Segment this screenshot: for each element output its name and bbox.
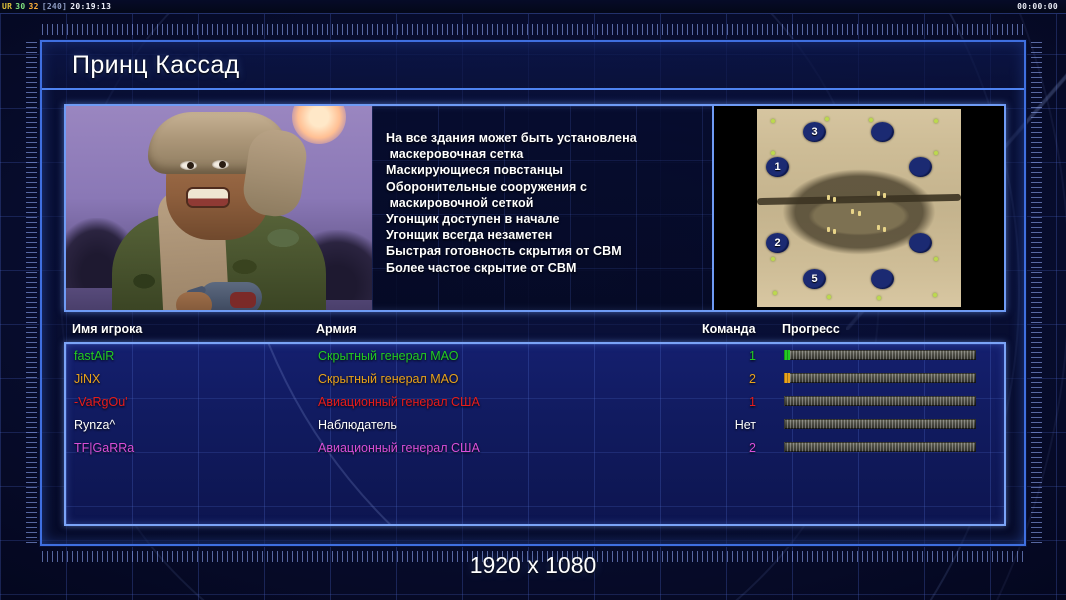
player-team: Нет (728, 418, 756, 432)
system-clock: 20:19:13 (70, 2, 111, 11)
title-bar: Принц Кассад (42, 42, 1024, 90)
map-start-position (871, 122, 894, 142)
description-line: На все здания может быть установлена (386, 130, 702, 146)
map-start-position: 5 (803, 269, 826, 289)
map-preview-frame[interactable]: 3125 (712, 106, 1004, 310)
fps-value-b: 32 (28, 2, 38, 11)
map-start-position: 3 (803, 122, 826, 142)
map-preview-image: 3125 (757, 109, 961, 307)
map-supply-marker (877, 225, 880, 230)
map-resource-marker (934, 119, 938, 123)
character-eye (180, 161, 197, 170)
description-line: Угонщик доступен в начале (386, 211, 702, 227)
character-figure (104, 120, 334, 310)
map-resource-marker (771, 119, 775, 123)
player-team: 2 (728, 441, 756, 455)
map-resource-marker (934, 257, 938, 261)
map-start-position (871, 269, 894, 289)
character-mouth (188, 189, 228, 206)
player-name: TF|GaRRa (74, 441, 134, 455)
player-army: Скрытный генерал МАО (318, 372, 458, 386)
map-resource-marker (773, 291, 777, 295)
ruler-right (1031, 42, 1042, 546)
progress-fill (784, 350, 790, 360)
description-line: Более частое скрытие от СВМ (386, 260, 702, 276)
resolution-label: 1920 x 1080 (0, 552, 1066, 579)
general-info-panel: На все здания может быть установлена мас… (64, 104, 1006, 312)
table-row[interactable]: -VaRgOu'Авиационный генерал США1 (66, 390, 1004, 413)
player-progress-bar (784, 396, 976, 406)
description-line: маскировочной сеткой (386, 195, 702, 211)
game-lobby-screen: UR 30 32 [240] 20:19:13 00:00:00 Принц К… (0, 0, 1066, 600)
player-name: fastAiR (74, 349, 114, 363)
main-panel: Принц Кассад (40, 40, 1026, 546)
ruler-top (42, 24, 1026, 35)
fps-value-a: 30 (15, 2, 25, 11)
table-row[interactable]: Rynza^НаблюдательНет (66, 413, 1004, 436)
map-resource-marker (933, 293, 937, 297)
general-portrait (66, 106, 372, 310)
map-supply-marker (877, 191, 880, 196)
map-resource-marker (869, 118, 873, 122)
player-progress-bar (784, 419, 976, 429)
map-resource-marker (825, 117, 829, 121)
top-status-bar: UR 30 32 [240] 20:19:13 00:00:00 (0, 0, 1066, 14)
player-name: JiNX (74, 372, 100, 386)
map-river (757, 194, 961, 205)
table-row[interactable]: fastAiRСкрытный генерал МАО1 (66, 344, 1004, 367)
table-row[interactable]: TF|GaRRaАвиационный генерал США2 (66, 436, 1004, 459)
map-supply-marker (827, 227, 830, 232)
character-hand (176, 292, 212, 310)
description-line: Угонщик всегда незаметен (386, 227, 702, 243)
description-line: Маскирующиеся повстанцы (386, 162, 702, 178)
map-resource-marker (827, 295, 831, 299)
column-header-name: Имя игрока (72, 322, 142, 336)
map-supply-marker (883, 227, 886, 232)
player-progress-bar (784, 350, 976, 360)
map-resource-marker (771, 257, 775, 261)
player-army: Авиационный генерал США (318, 395, 480, 409)
column-header-team: Команда (702, 322, 756, 336)
progress-track (784, 396, 976, 406)
map-supply-marker (858, 211, 861, 216)
player-team: 1 (728, 395, 756, 409)
progress-track (784, 442, 976, 452)
map-supply-marker (827, 195, 830, 200)
player-table: fastAiRСкрытный генерал МАО1JiNXСкрытный… (64, 342, 1006, 526)
column-header-army: Армия (316, 322, 357, 336)
fps-label: UR (2, 2, 12, 11)
progress-track (784, 350, 976, 360)
page-title: Принц Кассад (42, 51, 240, 80)
ruler-left (26, 42, 37, 546)
map-supply-marker (883, 193, 886, 198)
fps-counter: UR 30 32 [240] 20:19:13 (0, 2, 111, 11)
table-row[interactable]: JiNXСкрытный генерал МАО2 (66, 367, 1004, 390)
progress-fill (784, 373, 790, 383)
map-supply-marker (833, 229, 836, 234)
player-progress-bar (784, 442, 976, 452)
progress-track (784, 419, 976, 429)
map-start-position: 2 (766, 233, 789, 253)
description-line: Быстрая готовность скрытия от СВМ (386, 243, 702, 259)
description-line: маскеровочная сетка (386, 146, 702, 162)
column-header-progress: Прогресс (782, 322, 840, 336)
description-line: Оборонительные сооружения с (386, 179, 702, 195)
player-table-header: Имя игрока Армия Команда Прогресс (64, 322, 1006, 342)
player-army: Скрытный генерал МАО (318, 349, 458, 363)
map-start-position (909, 233, 932, 253)
map-resource-marker (934, 151, 938, 155)
player-progress-bar (784, 373, 976, 383)
map-resource-marker (771, 151, 775, 155)
player-name: Rynza^ (74, 418, 115, 432)
map-start-position (909, 157, 932, 177)
map-resource-marker (877, 296, 881, 300)
character-eye (212, 160, 229, 169)
map-start-position: 1 (766, 157, 789, 177)
player-name: -VaRgOu' (74, 395, 128, 409)
player-team: 2 (728, 372, 756, 386)
player-team: 1 (728, 349, 756, 363)
session-timer: 00:00:00 (1017, 2, 1058, 11)
player-army: Авиационный генерал США (318, 441, 480, 455)
fps-value-c: [240] (42, 2, 68, 11)
map-supply-marker (833, 197, 836, 202)
player-army: Наблюдатель (318, 418, 397, 432)
progress-track (784, 373, 976, 383)
general-description: На все здания может быть установлена мас… (372, 106, 712, 310)
map-supply-marker (851, 209, 854, 214)
